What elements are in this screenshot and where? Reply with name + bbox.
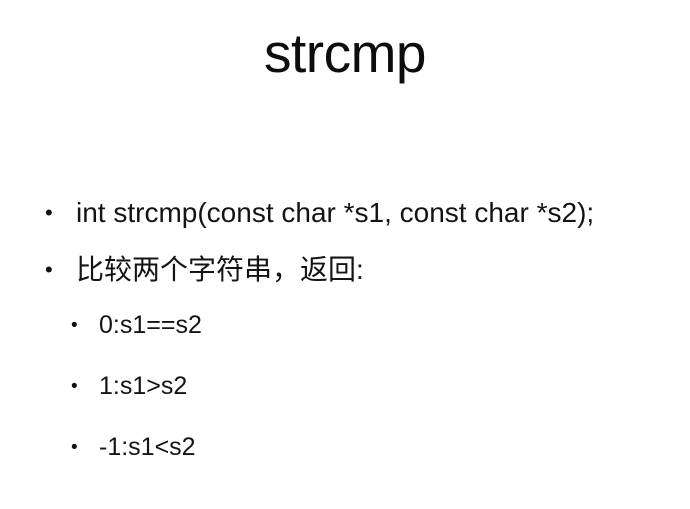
bullet-point-icon: • xyxy=(71,373,99,400)
list-item: • -1:s1<s2 xyxy=(45,434,665,461)
bullet-point-icon: • xyxy=(45,198,76,228)
list-item-label: int strcmp(const char *s1, const char *s… xyxy=(76,198,665,228)
list-item-label: 1:s1>s2 xyxy=(99,373,665,400)
bullet-point-icon: • xyxy=(71,434,99,461)
bullet-point-icon: • xyxy=(45,255,76,285)
list-item-label: 0:s1==s2 xyxy=(99,312,665,339)
bullet-point-icon: • xyxy=(71,312,99,339)
page-title: strcmp xyxy=(0,26,690,81)
list-item: • 1:s1>s2 xyxy=(45,373,665,400)
presentation-slide: strcmp • int strcmp(const char *s1, cons… xyxy=(0,0,690,509)
list-item: • 0:s1==s2 xyxy=(45,312,665,339)
slide-bullet-list: • int strcmp(const char *s1, const char … xyxy=(45,198,665,495)
list-item-label: 比较两个字符串，返回: xyxy=(76,255,665,285)
list-item: • 比较两个字符串，返回: xyxy=(45,255,665,285)
list-item-label: -1:s1<s2 xyxy=(99,434,665,461)
list-item: • int strcmp(const char *s1, const char … xyxy=(45,198,665,228)
